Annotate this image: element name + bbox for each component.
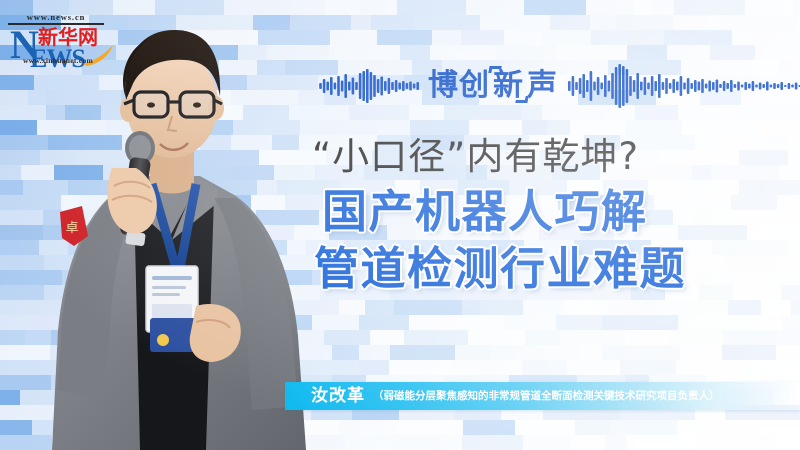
mosaic-tile bbox=[731, 315, 782, 330]
mosaic-tile bbox=[723, 330, 778, 345]
program-title-row: 博创新声 bbox=[300, 62, 800, 110]
mosaic-tile bbox=[556, 315, 602, 330]
mosaic-tile bbox=[620, 345, 680, 360]
mosaic-tile bbox=[376, 120, 410, 135]
mosaic-tile bbox=[522, 120, 547, 135]
mosaic-tile bbox=[791, 300, 800, 315]
mosaic-tile bbox=[721, 15, 797, 30]
mosaic-tile bbox=[351, 15, 371, 30]
headline: “小口径”内有乾坤? 国产机器人巧解 管道检测行业难题 bbox=[300, 138, 770, 291]
mosaic-tile bbox=[523, 300, 565, 315]
mosaic-tile bbox=[570, 120, 625, 135]
mosaic-tile bbox=[541, 30, 591, 45]
mosaic-tile bbox=[550, 15, 590, 30]
mosaic-tile bbox=[330, 30, 377, 45]
mosaic-tile bbox=[469, 120, 522, 135]
mosaic-tile bbox=[652, 0, 674, 15]
mosaic-tile bbox=[458, 315, 504, 330]
mosaic-tile bbox=[504, 315, 556, 330]
mosaic-tile bbox=[325, 0, 360, 15]
mosaic-tile bbox=[722, 345, 776, 360]
mosaic-tile bbox=[777, 195, 800, 210]
program-title-prefix: 博创 bbox=[428, 71, 490, 101]
program-title: 博创新声 bbox=[428, 71, 558, 101]
logo-url-top: www.news.cn bbox=[8, 12, 104, 22]
mosaic-tile bbox=[753, 360, 800, 375]
mosaic-tile bbox=[676, 360, 753, 375]
video-thumbnail: 卓 www.news.cn N 新华网 EWS www.xinhuanet.co… bbox=[0, 0, 800, 450]
mosaic-tile bbox=[409, 315, 458, 330]
mosaic-tile bbox=[393, 435, 462, 450]
mosaic-tile bbox=[728, 300, 761, 315]
mosaic-tile bbox=[602, 315, 642, 330]
mosaic-tile bbox=[666, 300, 728, 315]
mosaic-tile bbox=[732, 30, 754, 45]
mosaic-tile bbox=[480, 15, 550, 30]
mosaic-tile bbox=[677, 420, 713, 435]
mosaic-tile bbox=[634, 0, 652, 15]
mosaic-tile bbox=[462, 435, 523, 450]
mosaic-tile bbox=[605, 435, 626, 450]
svg-text:卓: 卓 bbox=[65, 221, 78, 236]
mosaic-tile bbox=[560, 330, 625, 345]
mosaic-tile bbox=[359, 360, 389, 375]
mosaic-tile bbox=[468, 330, 525, 345]
headline-line-1: “小口径”内有乾坤? bbox=[312, 138, 770, 175]
mosaic-tile bbox=[430, 45, 496, 60]
mosaic-tile bbox=[329, 45, 400, 60]
mosaic-tile bbox=[463, 420, 515, 435]
mosaic-tile bbox=[754, 30, 800, 45]
mosaic-tile bbox=[639, 420, 677, 435]
mosaic-tile bbox=[397, 420, 463, 435]
mosaic-tile bbox=[390, 345, 455, 360]
mosaic-tile bbox=[359, 345, 390, 360]
speaker-caption-bar: 汝改革 （弱磁能分层聚焦感知的非常规管道全断面检测关键技术研究项目负责人） bbox=[285, 382, 800, 410]
mosaic-tile bbox=[370, 330, 404, 345]
mosaic-tile bbox=[710, 45, 755, 60]
mosaic-tile bbox=[359, 315, 409, 330]
mosaic-tile bbox=[776, 345, 800, 360]
mosaic-tile bbox=[332, 345, 359, 360]
mosaic-tile bbox=[525, 330, 560, 345]
speaker-role: （弱磁能分层聚焦感知的非常规管道全断面检测关键技术研究项目负责人） bbox=[373, 391, 720, 402]
mosaic-tile bbox=[466, 0, 524, 15]
mosaic-tile bbox=[360, 0, 397, 15]
mosaic-tile bbox=[371, 15, 413, 30]
mosaic-tile bbox=[602, 345, 620, 360]
mosaic-tile bbox=[491, 345, 539, 360]
mosaic-tile bbox=[461, 30, 504, 45]
mosaic-tile bbox=[678, 315, 731, 330]
mosaic-tile bbox=[754, 120, 800, 135]
mosaic-tile bbox=[522, 360, 567, 375]
program-title-bracketed: 新 bbox=[491, 71, 526, 101]
mosaic-tile bbox=[345, 435, 393, 450]
mosaic-tile bbox=[496, 45, 556, 60]
mosaic-tile bbox=[432, 30, 461, 45]
mosaic-tile bbox=[642, 315, 678, 330]
mosaic-tile bbox=[778, 255, 800, 270]
mosaic-tile bbox=[404, 330, 468, 345]
mosaic-tile bbox=[377, 30, 432, 45]
mosaic-tile bbox=[778, 330, 800, 345]
mosaic-tile bbox=[413, 15, 480, 30]
mosaic-tile bbox=[625, 330, 669, 345]
mosaic-tile bbox=[339, 420, 397, 435]
mosaic-tile bbox=[787, 135, 800, 150]
mosaic-tile bbox=[781, 285, 800, 300]
mosaic-tile bbox=[745, 0, 793, 15]
mosaic-tile bbox=[627, 45, 667, 60]
mosaic-tile bbox=[768, 435, 800, 450]
logo-url-bottom: www.xinhuanet.com bbox=[8, 56, 108, 65]
mosaic-tile bbox=[695, 435, 739, 450]
mosaic-tile bbox=[608, 300, 666, 315]
mosaic-tile bbox=[667, 45, 710, 60]
mosaic-tile bbox=[739, 435, 768, 450]
mosaic-tile bbox=[673, 15, 721, 30]
mosaic-tile bbox=[504, 30, 541, 45]
mosaic-tile bbox=[523, 435, 571, 450]
mosaic-tile bbox=[397, 0, 466, 15]
mosaic-tile bbox=[524, 0, 586, 15]
speaker-name: 汝改革 bbox=[311, 388, 365, 405]
mosaic-tile bbox=[761, 300, 791, 315]
mosaic-tile bbox=[776, 210, 800, 225]
mosaic-tile bbox=[674, 0, 745, 15]
mosaic-tile bbox=[680, 345, 722, 360]
mosaic-tile bbox=[713, 420, 755, 435]
mosaic-tile bbox=[590, 15, 616, 30]
mosaic-tile bbox=[586, 0, 634, 15]
mosaic-tile bbox=[539, 345, 579, 360]
waveform-right-icon bbox=[566, 64, 800, 108]
mosaic-tile bbox=[616, 15, 673, 30]
mosaic-tile bbox=[515, 420, 575, 435]
mosaic-tile bbox=[788, 240, 800, 255]
mosaic-tile bbox=[455, 345, 491, 360]
mosaic-tile bbox=[462, 300, 480, 315]
mosaic-tile bbox=[591, 30, 664, 45]
mosaic-tile bbox=[547, 120, 570, 135]
mosaic-tile bbox=[779, 165, 800, 180]
mosaic-tile bbox=[626, 435, 695, 450]
mosaic-tile bbox=[793, 0, 800, 15]
mosaic-tile bbox=[571, 435, 605, 450]
mosaic-tile bbox=[625, 120, 682, 135]
mosaic-tile bbox=[324, 330, 370, 345]
mosaic-tile bbox=[788, 150, 800, 165]
mosaic-tile bbox=[782, 315, 800, 330]
mosaic-tile bbox=[480, 300, 523, 315]
mosaic-tile bbox=[556, 45, 627, 60]
mosaic-tile bbox=[453, 360, 522, 375]
mosaic-tile bbox=[400, 45, 430, 60]
mosaic-tile bbox=[755, 420, 798, 435]
mosaic-tile bbox=[669, 330, 723, 345]
mosaic-tile bbox=[339, 300, 365, 315]
mosaic-tile bbox=[611, 420, 639, 435]
mosaic-tile bbox=[389, 360, 453, 375]
mosaic-tile bbox=[620, 360, 676, 375]
mosaic-tile bbox=[664, 30, 732, 45]
xinhua-logo[interactable]: www.news.cn N 新华网 EWS www.xinhuanet.com bbox=[8, 12, 108, 70]
mosaic-tile bbox=[565, 300, 608, 315]
mosaic-tile bbox=[575, 420, 611, 435]
mosaic-tile bbox=[682, 120, 754, 135]
headline-line-2: 国产机器人巧解 bbox=[322, 189, 770, 234]
mosaic-tile bbox=[579, 345, 602, 360]
program-title-suffix: 声 bbox=[527, 71, 558, 101]
mosaic-tile bbox=[755, 45, 800, 60]
waveform-left-icon bbox=[300, 64, 420, 108]
mosaic-tile bbox=[768, 270, 800, 285]
mosaic-tile bbox=[365, 300, 394, 315]
mosaic-tile bbox=[567, 360, 620, 375]
mosaic-tile bbox=[410, 120, 469, 135]
headline-line-3: 管道检测行业难题 bbox=[314, 246, 770, 291]
mosaic-tile bbox=[394, 300, 462, 315]
